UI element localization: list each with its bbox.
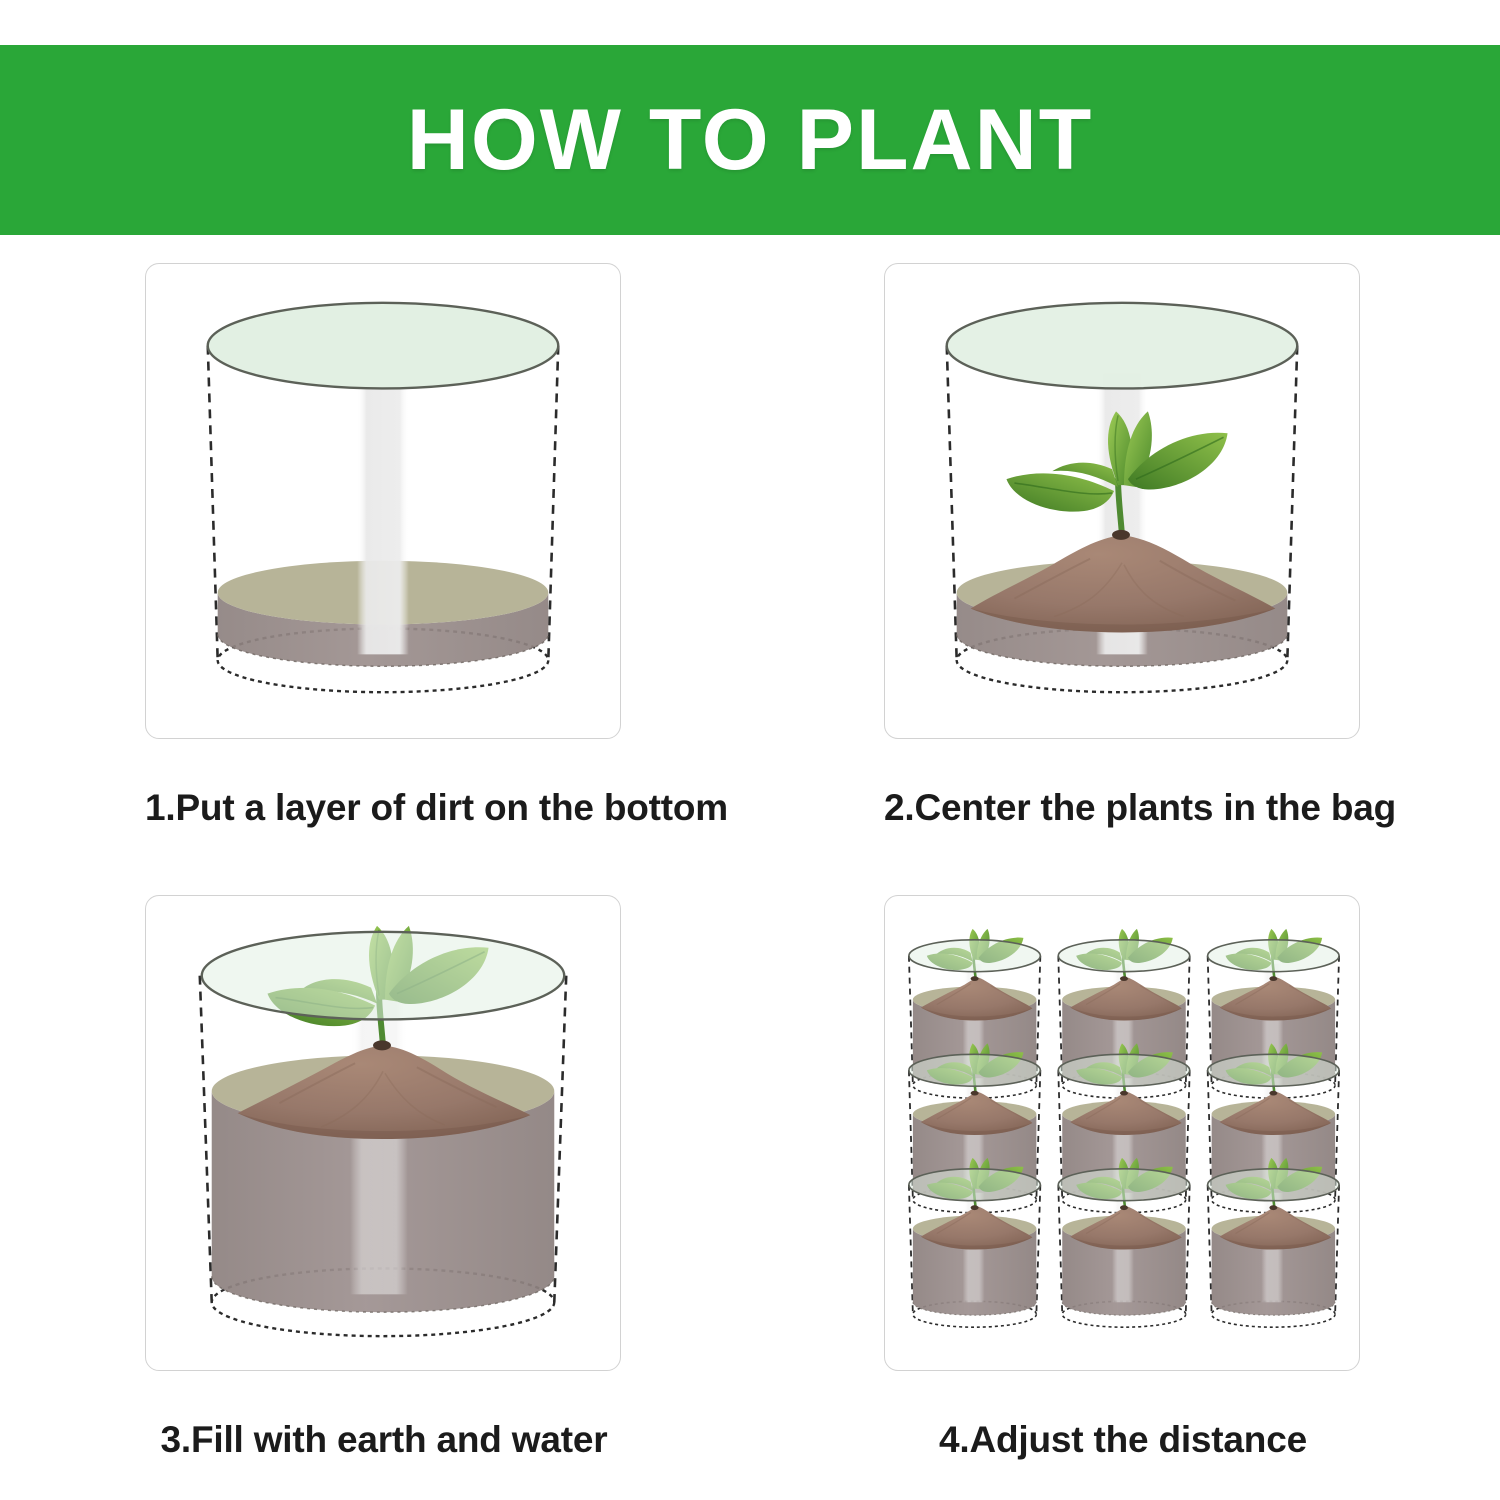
- bag-top-cap: [947, 303, 1298, 389]
- step-caption-2: 2.Center the plants in the bag: [884, 787, 1362, 829]
- grow-bag-row-3: [909, 1158, 1339, 1327]
- bag-wall-right: [1287, 346, 1297, 661]
- step-item-1: 1.Put a layer of dirt on the bottom: [145, 263, 623, 829]
- grow-bag-grid-illustration: [885, 896, 1359, 1370]
- bag-wall-right: [548, 346, 558, 661]
- grow-bag-filled-illustration: [146, 896, 620, 1370]
- step-item-4: 4.Adjust the distance: [884, 895, 1362, 1461]
- grow-bag-dirt-layer-illustration: [146, 264, 620, 738]
- bag-wall-left: [200, 976, 212, 1303]
- step-caption-1: 1.Put a layer of dirt on the bottom: [145, 787, 623, 829]
- step-illustration-card-4: [884, 895, 1360, 1371]
- grow-bag-r3c1: [909, 1158, 1040, 1327]
- bag-wall-left: [208, 346, 218, 661]
- step-caption-3: 3.Fill with earth and water: [145, 1419, 623, 1461]
- step-illustration-card-2: [884, 263, 1360, 739]
- grow-bag-r3c3: [1208, 1158, 1339, 1327]
- header-banner: HOW TO PLANT: [0, 45, 1500, 235]
- bag-wall-left: [947, 346, 957, 661]
- plant-base-soil: [373, 1040, 391, 1050]
- step-illustration-card-1: [145, 263, 621, 739]
- bag-top-cap: [208, 303, 559, 389]
- page-title: HOW TO PLANT: [407, 97, 1093, 183]
- bag-top-cap: [202, 932, 564, 1020]
- step-item-3: 3.Fill with earth and water: [145, 895, 623, 1461]
- bag-center-seam-strip: [350, 996, 408, 1295]
- steps-grid: 1.Put a layer of dirt on the bottom: [0, 255, 1500, 1500]
- bag-center-seam-strip: [357, 374, 409, 655]
- bag-wall-right: [554, 976, 566, 1303]
- step-caption-4: 4.Adjust the distance: [884, 1419, 1362, 1461]
- plant-base-soil: [1112, 530, 1130, 540]
- grow-bag-centered-plant-illustration: [885, 264, 1359, 738]
- step-item-2: 2.Center the plants in the bag: [884, 263, 1362, 829]
- step-illustration-card-3: [145, 895, 621, 1371]
- grow-bag-r3c2: [1058, 1158, 1189, 1327]
